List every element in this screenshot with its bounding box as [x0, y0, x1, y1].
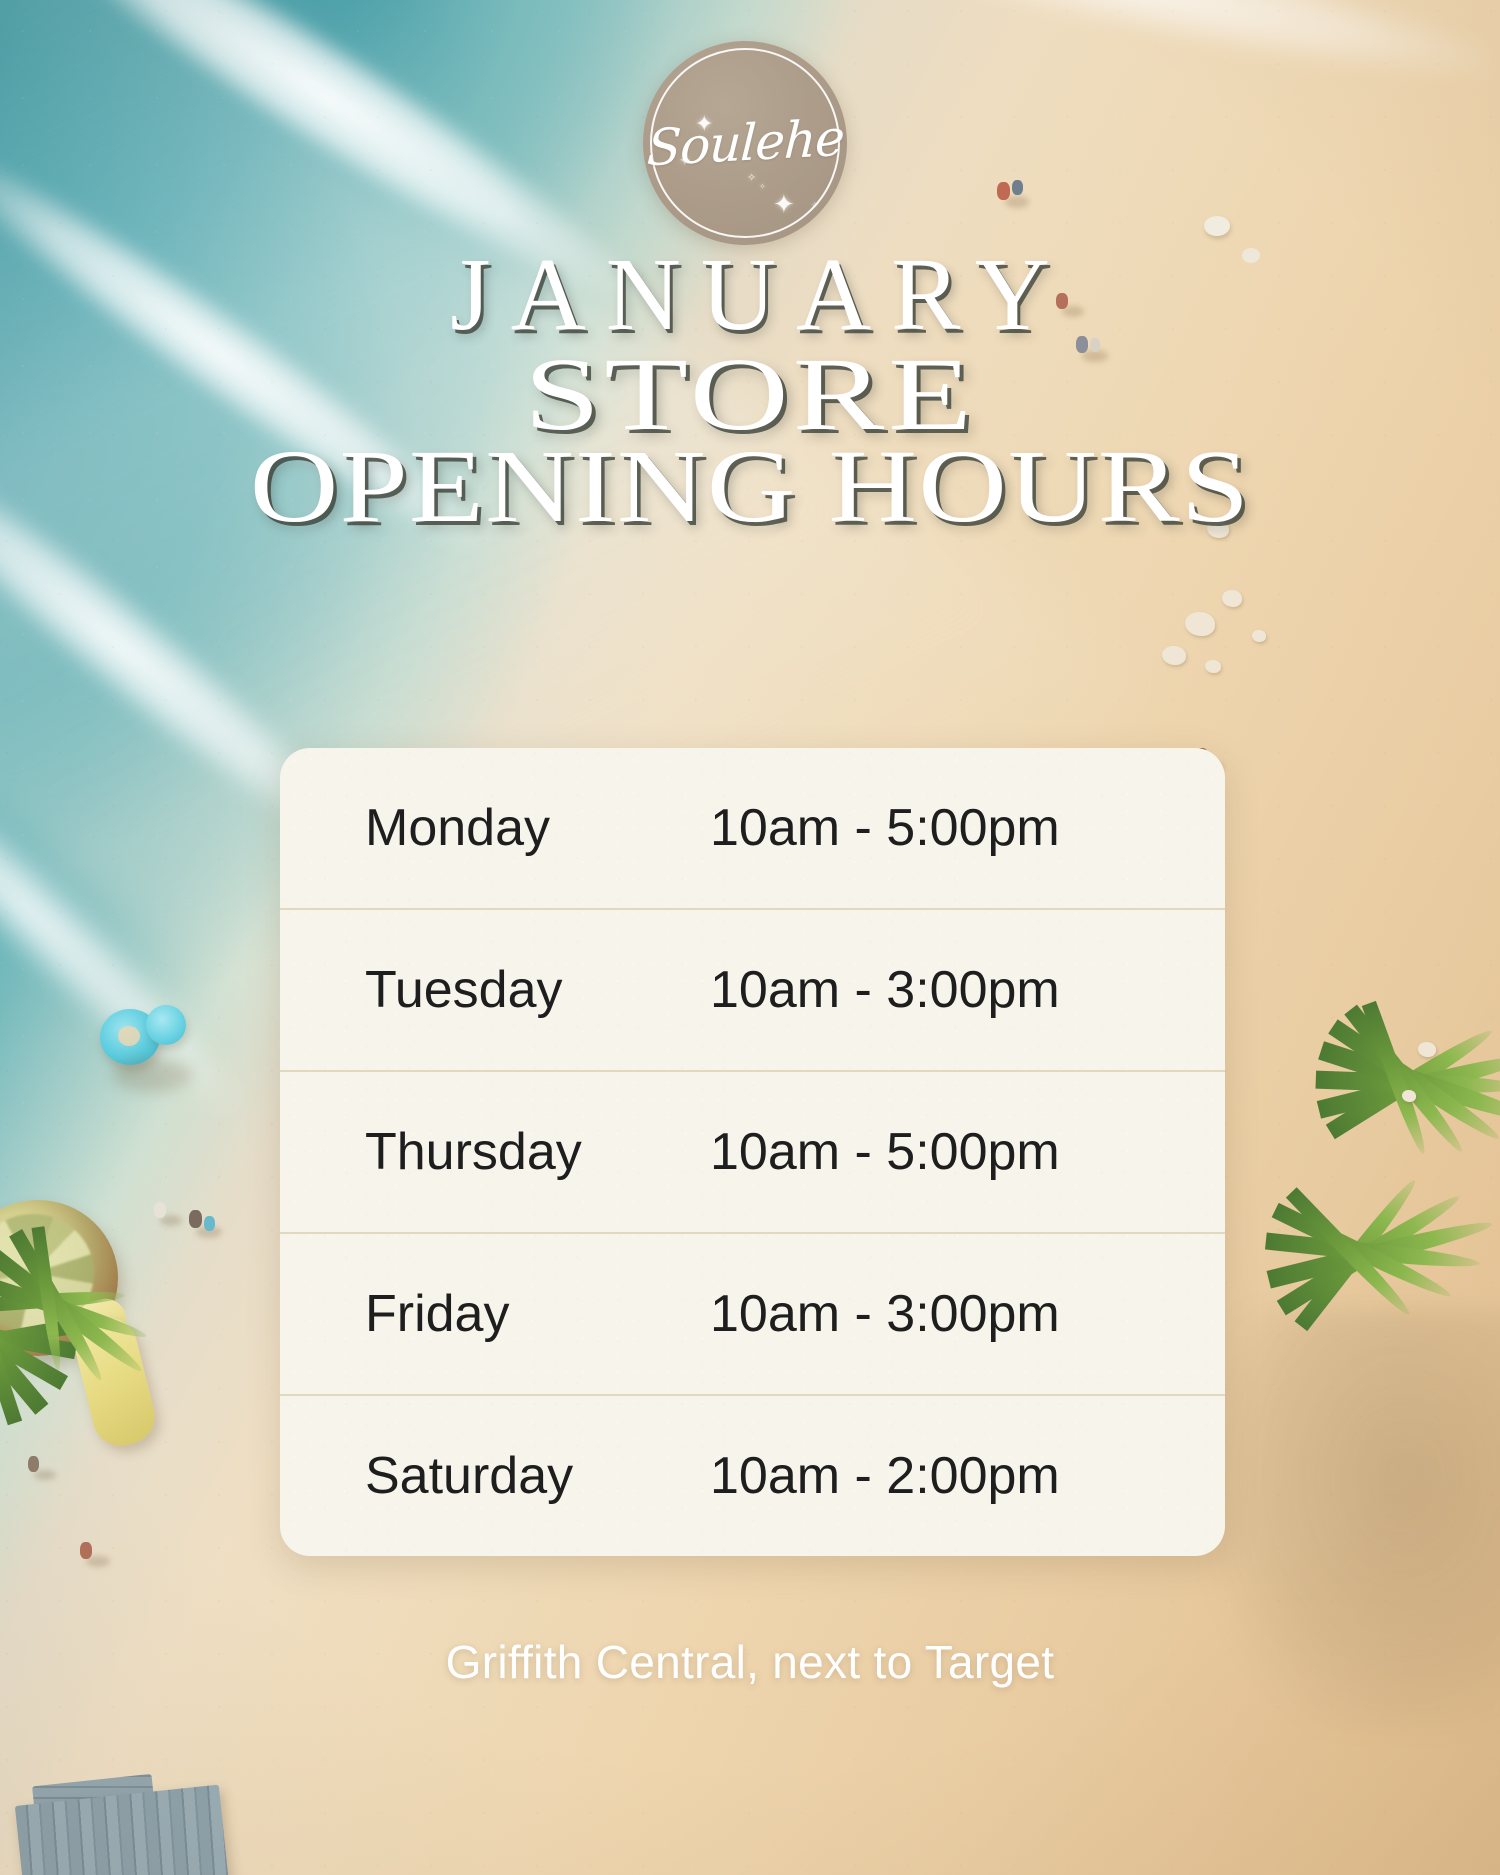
sparkle-icon-5: ✧	[759, 183, 766, 191]
poster-canvas: ✦ ✦ ✦ ✧ ✧ ✧ Soulehe JANUARY STORE OPENIN…	[0, 0, 1500, 1875]
row-time-value: 10am - 3:00pm	[710, 1284, 1060, 1344]
sparkle-icon-6: ✧	[811, 201, 819, 210]
table-row: Monday 10am - 5:00pm	[280, 748, 1225, 908]
row-day-label: Friday	[365, 1284, 710, 1344]
opening-hours-card: Monday 10am - 5:00pm Tuesday 10am - 3:00…	[280, 748, 1225, 1556]
row-day-label: Saturday	[365, 1446, 710, 1506]
row-time-value: 10am - 2:00pm	[710, 1446, 1060, 1506]
table-row: Thursday 10am - 5:00pm	[280, 1070, 1225, 1232]
brand-logo-text: Soulehe	[645, 109, 845, 178]
row-day-label: Thursday	[365, 1122, 710, 1182]
sparkle-icon-3: ✦	[773, 191, 795, 217]
row-time-value: 10am - 3:00pm	[710, 960, 1060, 1020]
table-row: Tuesday 10am - 3:00pm	[280, 908, 1225, 1070]
row-time-value: 10am - 5:00pm	[710, 1122, 1060, 1182]
sparkle-icon-4: ✧	[747, 173, 756, 184]
table-row: Saturday 10am - 2:00pm	[280, 1394, 1225, 1556]
brand-logo-badge[interactable]: ✦ ✦ ✦ ✧ ✧ ✧ Soulehe	[643, 41, 847, 245]
row-day-label: Tuesday	[365, 960, 710, 1020]
row-time-value: 10am - 5:00pm	[710, 798, 1060, 858]
table-row: Friday 10am - 3:00pm	[280, 1232, 1225, 1394]
store-location-note: Griffith Central, next to Target	[0, 1635, 1500, 1689]
row-day-label: Monday	[365, 798, 710, 858]
